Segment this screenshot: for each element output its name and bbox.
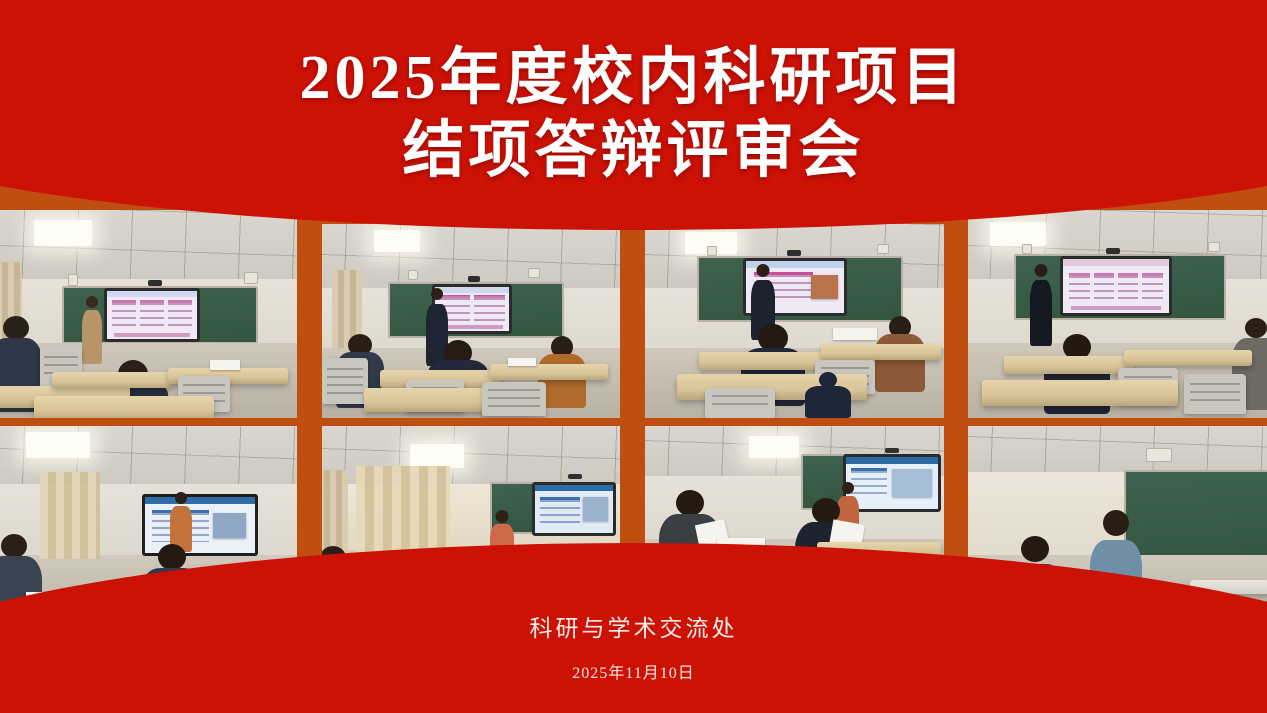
poster-footer: 科研与学术交流处 2025年11月10日 [0, 609, 1267, 701]
poster-title: 2025年度校内科研项目 结项答辩评审会 [0, 42, 1267, 188]
organization-name: 科研与学术交流处 [0, 609, 1267, 643]
poster-canvas: 2025年度校内科研项目 结项答辩评审会 科研与学术交流处 2025年11月10… [0, 0, 1267, 713]
gallery-photo-1[interactable] [0, 210, 297, 418]
gallery-photo-3[interactable] [645, 224, 944, 418]
gallery-photo-4[interactable] [968, 210, 1267, 418]
gallery-photo-2[interactable] [322, 224, 620, 418]
event-date: 2025年11月10日 [0, 659, 1267, 683]
title-line-1: 2025年度校内科研项目 [0, 42, 1267, 115]
footer-watermark [0, 691, 1267, 701]
title-line-2: 结项答辩评审会 [0, 115, 1267, 188]
